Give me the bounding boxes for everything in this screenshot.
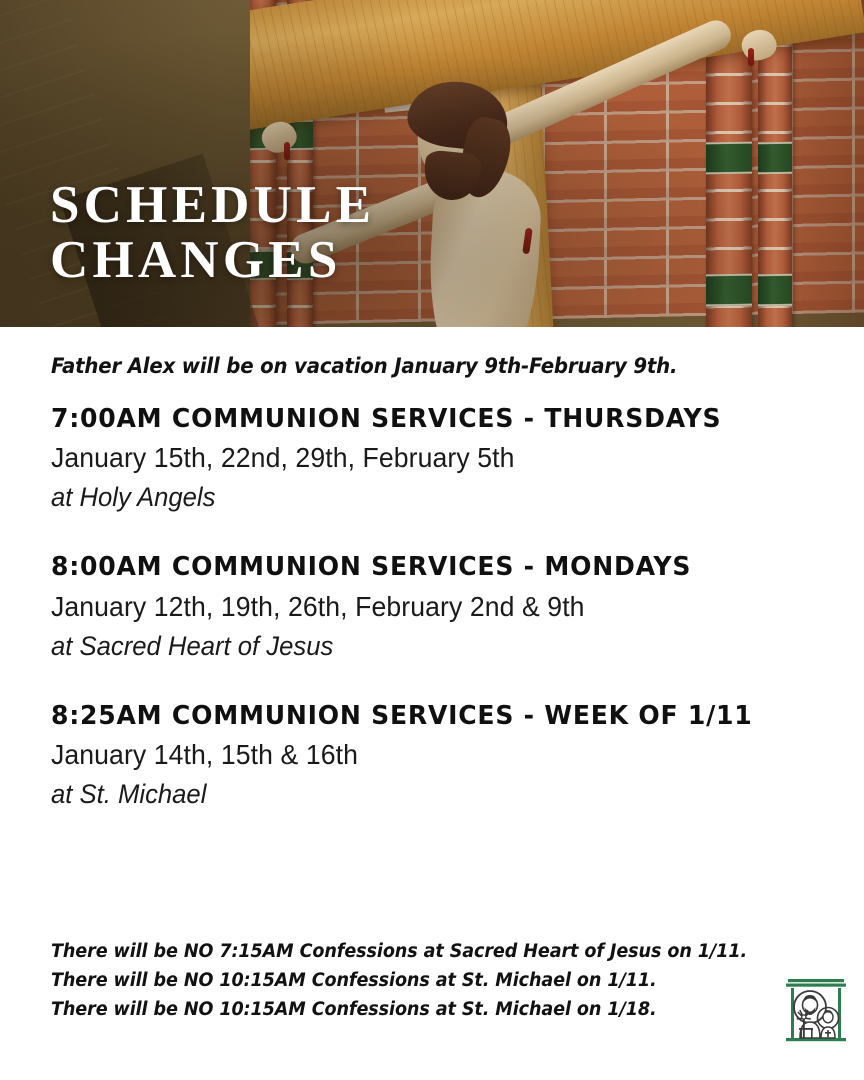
page-title: SCHEDULE CHANGES <box>50 178 375 288</box>
schedule-heading: 8:00AM COMMUNION SERVICES - MONDAYS <box>51 551 813 584</box>
confession-notes: There will be NO 7:15AM Confessions at S… <box>51 937 751 1024</box>
vacation-notice: Father Alex will be on vacation January … <box>51 354 677 378</box>
schedule-location: at St. Michael <box>51 776 802 812</box>
schedule-location: at Sacred Heart of Jesus <box>51 628 802 664</box>
schedule-dates: January 14th, 15th & 16th <box>51 737 802 774</box>
content-area: Father Alex will be on vacation January … <box>0 327 864 1080</box>
schedule-block: 8:25AM COMMUNION SERVICES - WEEK OF 1/11… <box>51 700 841 812</box>
note-line: There will be NO 10:15AM Confessions at … <box>51 995 716 1024</box>
note-line: There will be NO 10:15AM Confessions at … <box>51 966 716 995</box>
note-line: There will be NO 7:15AM Confessions at S… <box>51 937 716 966</box>
poster: SCHEDULE CHANGES Father Alex will be on … <box>0 0 864 1080</box>
schedule-heading: 7:00AM COMMUNION SERVICES - THURSDAYS <box>51 403 813 436</box>
schedule-dates: January 12th, 19th, 26th, February 2nd &… <box>51 589 802 626</box>
schedule-list: 7:00AM COMMUNION SERVICES - THURSDAYS Ja… <box>51 403 841 812</box>
schedule-heading: 8:25AM COMMUNION SERVICES - WEEK OF 1/11 <box>51 700 813 733</box>
hero-photo-crucifix: SCHEDULE CHANGES <box>0 0 864 327</box>
parish-logo <box>783 972 849 1042</box>
schedule-location: at Holy Angels <box>51 479 802 515</box>
schedule-block: 8:00AM COMMUNION SERVICES - MONDAYS Janu… <box>51 551 841 663</box>
schedule-block: 7:00AM COMMUNION SERVICES - THURSDAYS Ja… <box>51 403 841 515</box>
schedule-dates: January 15th, 22nd, 29th, February 5th <box>51 440 802 477</box>
